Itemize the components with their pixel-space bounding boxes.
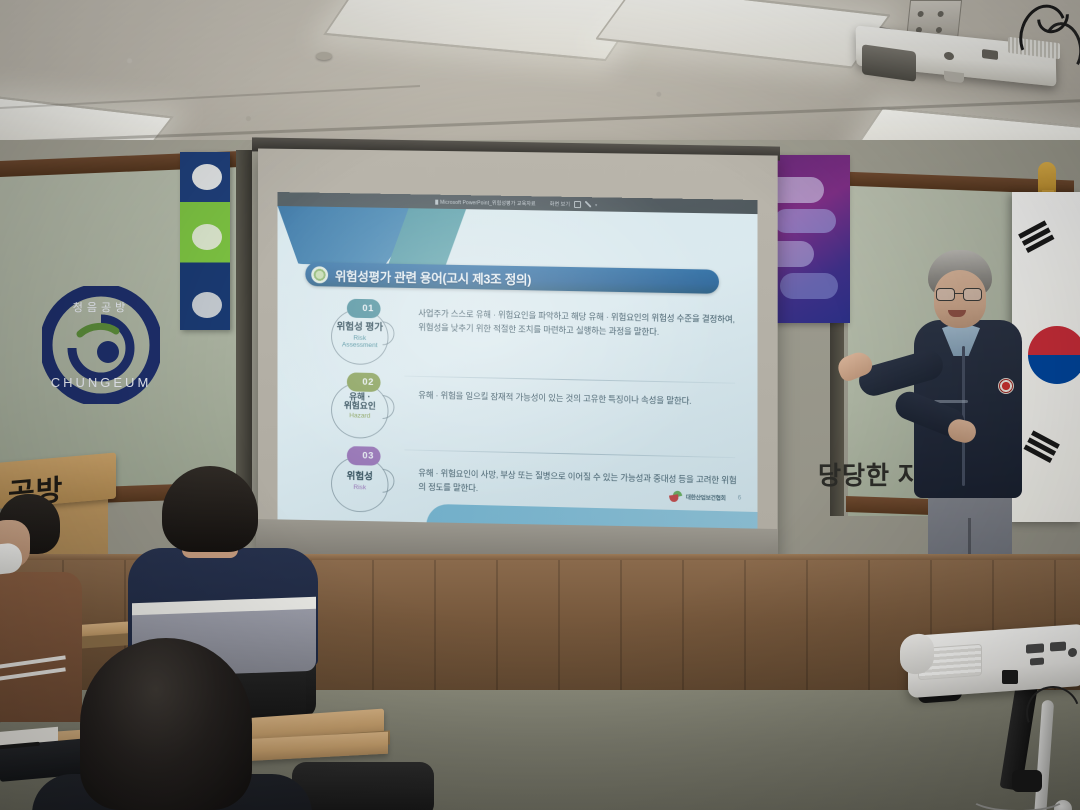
pointer-icon[interactable]	[585, 201, 591, 207]
organization-logo: 대한산업보건협회	[670, 491, 726, 503]
projector-lens	[900, 633, 934, 675]
svg-text:CHUNGEUM: CHUNGEUM	[51, 375, 152, 390]
wall-divider	[236, 150, 252, 510]
projection-screen: Microsoft PowerPoint_위험성평가 교육자료 화면 보기 ▾ …	[278, 192, 758, 532]
audience-member	[52, 638, 292, 810]
chair	[292, 762, 434, 810]
glasses-icon	[936, 288, 984, 301]
organization-name: 대한산업보건협회	[686, 493, 726, 502]
item-label-en: Assessment	[331, 342, 388, 350]
slide-title-bar: 위험성평가 관련 용어(고시 제3조 정의)	[305, 262, 719, 294]
item-label: 위험성 Risk	[331, 472, 388, 493]
item-pin: 01	[347, 299, 381, 319]
audience-head	[162, 466, 258, 552]
toolbar-present-label: 화면 보기	[550, 200, 570, 207]
chevron-down-icon[interactable]: ▾	[595, 202, 597, 207]
projector-cable	[968, 780, 1068, 810]
item-description: 유해 · 위험을 일으킬 잠재적 가능성이 있는 것의 고유한 특징이나 속성을…	[418, 388, 737, 409]
item-number: 02	[347, 372, 381, 392]
right-wall-banner	[770, 155, 850, 323]
chungeum-logo: CHUNGEUM 청음공방	[42, 286, 160, 404]
item-pin: 02	[347, 372, 381, 392]
item-label-en: Risk	[331, 484, 388, 493]
item-pin: 03	[347, 446, 381, 466]
document-icon	[435, 199, 438, 204]
item-number: 01	[347, 299, 381, 319]
item-badge: 01 위험성 평가 Risk Assessment	[323, 300, 402, 367]
left-wall-banner	[180, 152, 230, 330]
item-label: 유해 · 위험요인 Hazard	[331, 392, 388, 421]
slide-page-number: 6	[738, 495, 741, 501]
smoke-detector-icon	[316, 52, 332, 60]
slide-footer: 대한산업보건협회 6	[670, 491, 742, 504]
definition-item: 02 유해 · 위험요인 Hazard 유해 · 위험을 일으킬 잠재적 가능성…	[301, 369, 739, 453]
item-description: 사업주가 스스로 유해 · 위험요인을 파악하고 해당 유해 · 위험요인의 위…	[418, 306, 737, 341]
item-label-ko: 위험성 평가	[331, 322, 388, 333]
projector-port	[1050, 641, 1066, 651]
presenter-emblem-icon	[998, 378, 1014, 394]
definition-list: 01 위험성 평가 Risk Assessment 사업주가 스스로 유해 · …	[301, 296, 739, 520]
emblem-icon	[311, 266, 328, 283]
meeting-room-photo: CHUNGEUM 청음공방 공방 당당한 자존심 Microsoft Power…	[0, 0, 1080, 810]
audience-head	[80, 638, 252, 810]
projector-port	[1030, 658, 1044, 666]
svg-text:청음공방: 청음공방	[73, 301, 129, 314]
item-label-ko: 위험요인	[331, 401, 388, 411]
item-label-ko: 위험성	[331, 472, 388, 483]
definition-item: 01 위험성 평가 Risk Assessment 사업주가 스스로 유해 · …	[301, 296, 739, 379]
floor-projector	[908, 630, 1080, 810]
item-number: 03	[347, 446, 381, 466]
projector-plug	[1002, 670, 1018, 684]
item-label-en: Hazard	[331, 412, 388, 421]
item-badge: 02 유해 · 위험요인 Hazard	[323, 374, 402, 441]
projector-port	[982, 49, 998, 60]
display-icon[interactable]	[574, 200, 581, 207]
item-label: 위험성 평가 Risk Assessment	[331, 322, 388, 350]
slide-title: 위험성평가 관련 용어(고시 제3조 정의)	[335, 265, 531, 288]
toolbar-controls[interactable]: 화면 보기 ▾	[550, 200, 598, 208]
org-mark-icon	[670, 491, 683, 502]
toolbar-document-title: Microsoft PowerPoint_위험성평가 교육자료	[435, 198, 536, 207]
projector-port	[1026, 643, 1044, 653]
definition-item: 03 위험성 Risk 유해 · 위험요인이 사망, 부상 또는 질병으로 이어…	[301, 443, 739, 520]
slide-content: 위험성평가 관련 용어(고시 제3조 정의) 01 위험성 평가	[278, 206, 758, 532]
